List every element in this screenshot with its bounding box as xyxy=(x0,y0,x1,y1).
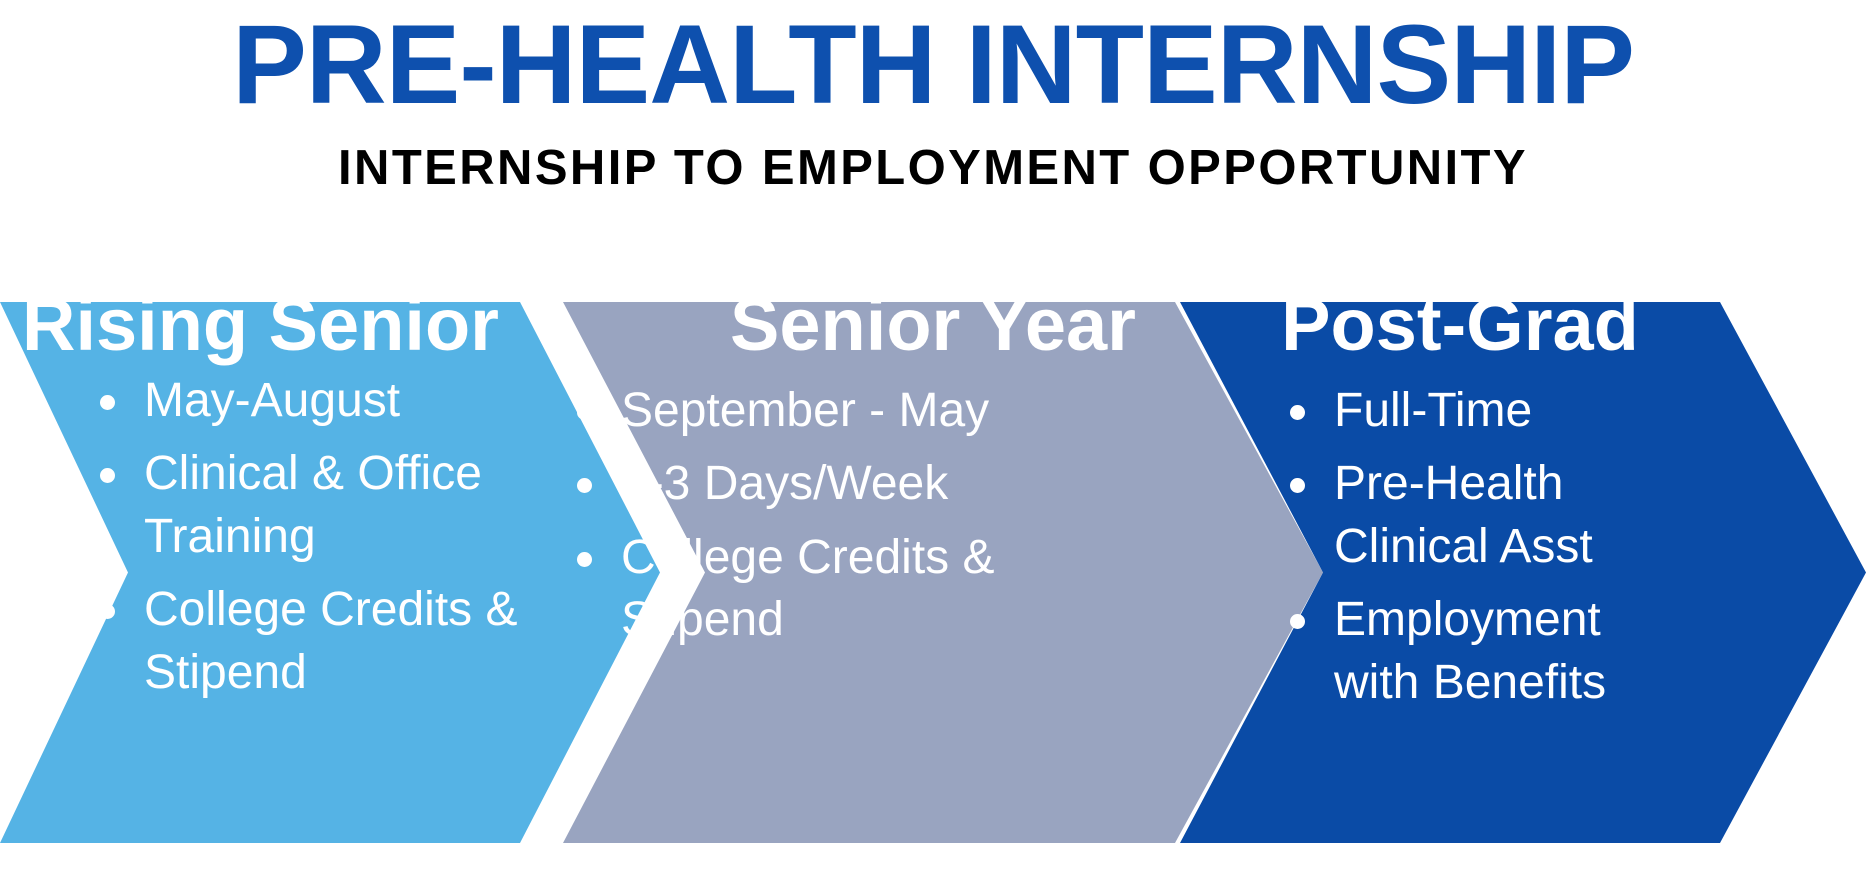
stage-title-post-grad: Post-Grad xyxy=(1180,288,1740,362)
list-item: Clinical & Office Training xyxy=(86,443,556,568)
list-item: May-August xyxy=(86,370,556,432)
list-item: Employment with Benefits xyxy=(1276,589,1696,714)
list-item: College Credits & Stipend xyxy=(86,579,556,704)
stage-bullet-list-rising-senior: May-August Clinical & Office Training Co… xyxy=(86,370,556,715)
stage-bullet-list-post-grad: Full-Time Pre-Health Clinical Asst Emplo… xyxy=(1276,380,1696,725)
stage-bullet-list-senior-year: September - May 2-3 Days/Week College Cr… xyxy=(563,380,1053,663)
stage-title-rising-senior: Rising Senior xyxy=(22,288,499,362)
stage-rising-senior: Rising Senior May-August Clinical & Offi… xyxy=(0,302,660,843)
page-title: PRE-HEALTH INTERNSHIP xyxy=(0,6,1866,124)
list-item: 2-3 Days/Week xyxy=(563,453,1053,515)
list-item: September - May xyxy=(563,380,1053,442)
infographic-page: PRE-HEALTH INTERNSHIP INTERNSHIP TO EMPL… xyxy=(0,0,1866,882)
header: PRE-HEALTH INTERNSHIP INTERNSHIP TO EMPL… xyxy=(0,0,1866,240)
list-item: Pre-Health Clinical Asst xyxy=(1276,453,1696,578)
page-subtitle: INTERNSHIP TO EMPLOYMENT OPPORTUNITY xyxy=(0,140,1866,196)
stage-post-grad: Post-Grad Full-Time Pre-Health Clinical … xyxy=(1180,302,1866,843)
list-item: College Credits & Stipend xyxy=(563,527,1053,652)
list-item: Full-Time xyxy=(1276,380,1696,442)
